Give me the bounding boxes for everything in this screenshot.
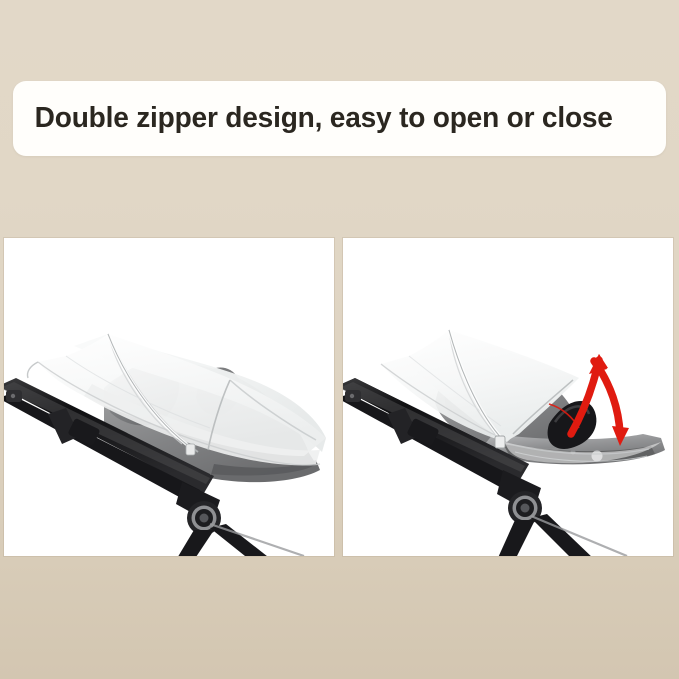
- stroller-net-open-illustration: [343, 238, 673, 556]
- product-feature-image: Double zipper design, easy to open or cl…: [0, 0, 679, 679]
- feature-banner: Double zipper design, easy to open or cl…: [13, 81, 666, 156]
- photo-panel-right: [343, 238, 673, 556]
- feature-banner-text: Double zipper design, easy to open or cl…: [13, 102, 613, 135]
- photo-panel-left: [4, 238, 334, 556]
- stroller-net-closed-illustration: [4, 238, 334, 556]
